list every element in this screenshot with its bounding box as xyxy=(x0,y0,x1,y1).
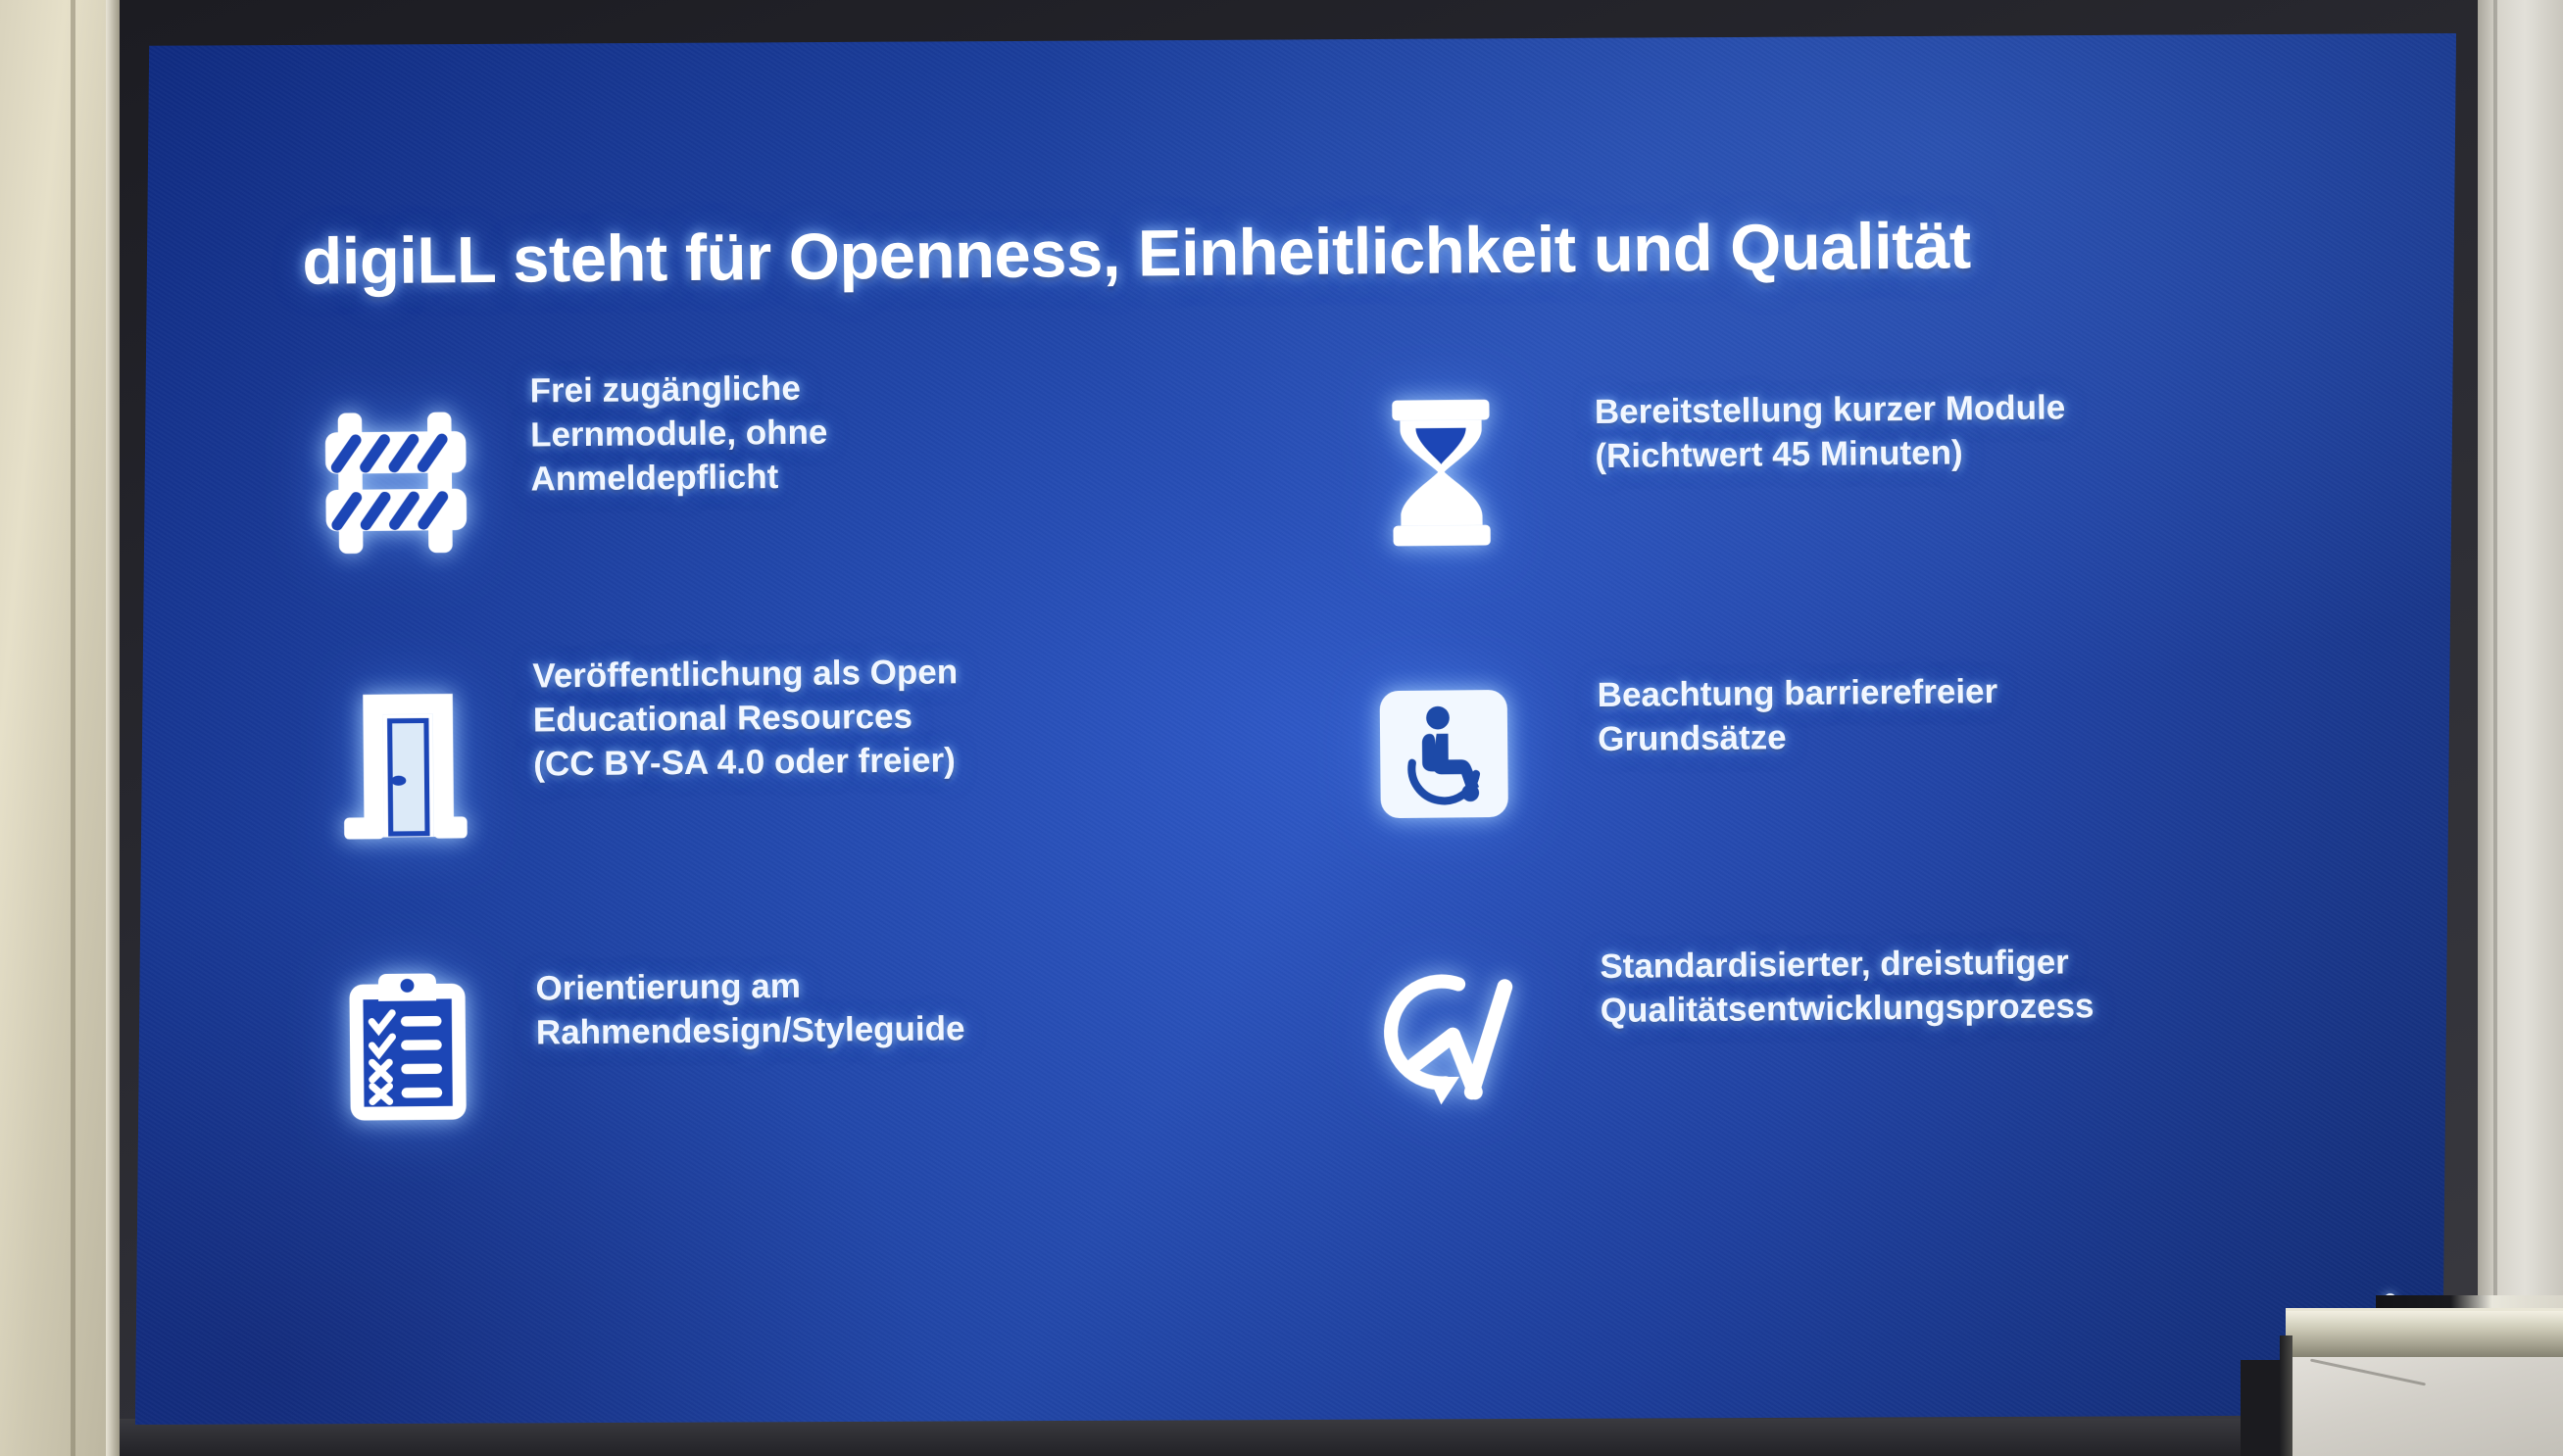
slide-title: digiLL steht für Openness, Einheitlichke… xyxy=(302,205,2302,300)
feature-line: Qualitätsentwicklungsprozess xyxy=(1601,985,2095,1034)
feature-line: Bereitstellung kurzer Module xyxy=(1595,386,2066,434)
feature-line: Lernmodule, ohne xyxy=(530,411,828,458)
feature-item-veroeffentlichung-oer: Veröffentlichung als Open Educational Re… xyxy=(281,638,1323,929)
feature-line: Orientierung am xyxy=(535,963,964,1011)
feature-item-barrierefreiheit: Beachtung barrierefreier Grundsätze xyxy=(1320,628,2362,919)
feature-line: Educational Resources xyxy=(533,695,959,743)
feature-text: Bereitstellung kurzer Module (Richtwert … xyxy=(1562,349,2066,479)
wall-right xyxy=(2478,0,2563,1456)
feature-line: (Richtwert 45 Minuten) xyxy=(1595,430,2066,478)
feature-line: Veröffentlichung als Open xyxy=(532,651,958,699)
feature-line: Anmeldepflicht xyxy=(530,455,828,502)
feature-item-frei-zugaengliche: Frei zugängliche Lernmodule, ohne Anmeld… xyxy=(278,357,1320,648)
hourglass-icon xyxy=(1317,354,1564,591)
room-photo-scene: digiLL steht für Openness, Einheitlichke… xyxy=(0,0,2563,1456)
feature-text: Standardisierter, dreistufiger Qualitäts… xyxy=(1568,911,2095,1034)
wall-left xyxy=(0,0,106,1456)
projected-slide: digiLL steht für Openness, Einheitlichke… xyxy=(135,33,2456,1425)
feature-line: (CC BY-SA 4.0 oder freier) xyxy=(533,739,959,787)
flipchart-left-edge xyxy=(2280,1335,2292,1456)
barrier-icon xyxy=(278,364,525,602)
feature-line: Standardisierter, dreistufiger xyxy=(1600,941,2094,990)
feature-line: Frei zugängliche xyxy=(529,367,827,414)
open-door-icon xyxy=(281,646,528,883)
feature-line: Grundsätze xyxy=(1598,714,1998,762)
flipchart-easel xyxy=(2280,1308,2563,1456)
feature-item-rahmendesign-styleguide: Orientierung am Rahmendesign/Styleguide xyxy=(284,919,1326,1210)
wheelchair-accessibility-icon xyxy=(1320,635,1567,872)
feature-text: Veröffentlichung als Open Educational Re… xyxy=(526,641,959,787)
screen-bezel-bottom xyxy=(120,1419,2478,1456)
wall-left-edge xyxy=(106,0,120,1456)
feature-text: Frei zugängliche Lernmodule, ohne Anmeld… xyxy=(523,362,828,502)
feature-line: Rahmendesign/Styleguide xyxy=(536,1007,965,1055)
feature-text: Orientierung am Rahmendesign/Styleguide xyxy=(529,922,965,1055)
flipchart-metal-bar xyxy=(2286,1308,2563,1359)
flipchart-paper xyxy=(2292,1357,2563,1456)
circular-arrow-check-icon xyxy=(1323,916,1570,1153)
feature-grid: Frei zugängliche Lernmodule, ohne Anmeld… xyxy=(278,347,2364,1209)
clipboard-checklist-icon xyxy=(284,927,531,1164)
feature-line: Beachtung barrierefreier xyxy=(1597,670,1997,718)
feature-item-qualitaetsprozess: Standardisierter, dreistufiger Qualitäts… xyxy=(1323,909,2365,1200)
feature-text: Beachtung barrierefreier Grundsätze xyxy=(1565,631,1998,762)
feature-item-bereitstellung-kurzer-module: Bereitstellung kurzer Module (Richtwert … xyxy=(1317,347,2359,638)
